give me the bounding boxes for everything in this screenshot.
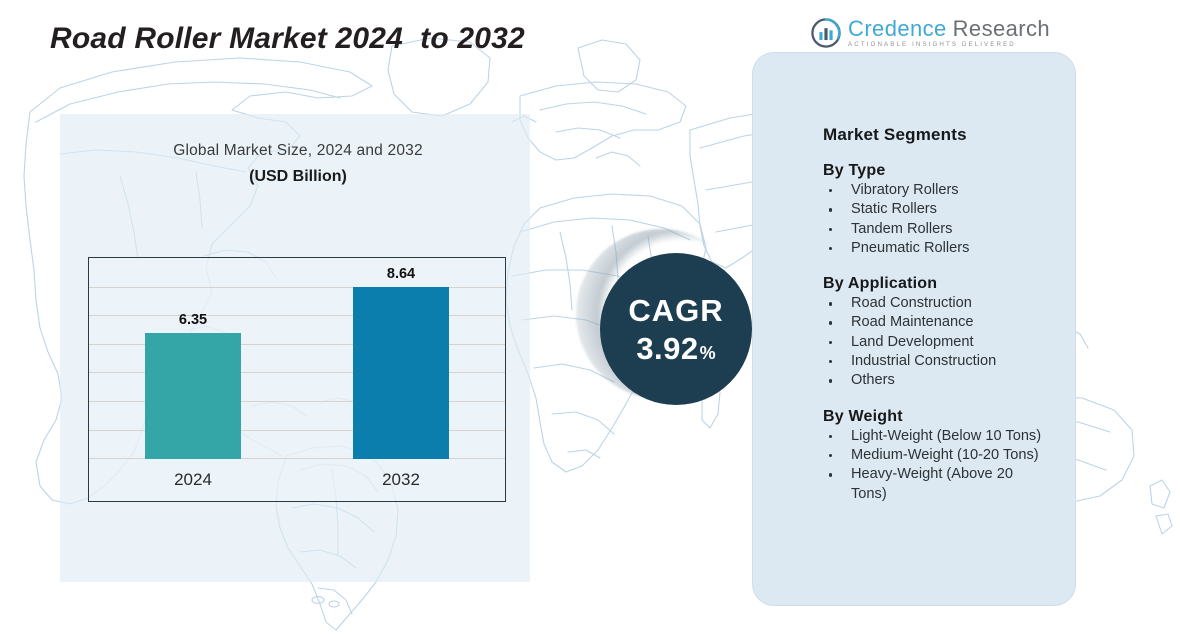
chart-x-axis-labels: 2024 2032 bbox=[89, 459, 505, 501]
chart-plot-area: 6.35 8.64 bbox=[89, 258, 505, 459]
segment-item: Light-Weight (Below 10 Tons) bbox=[823, 427, 1051, 446]
bar-chart: 6.35 8.64 2024 2032 bbox=[88, 257, 506, 502]
segment-group-title: By Type bbox=[823, 162, 1051, 180]
chart-subtitle: Global Market Size, 2024 and 2032 bbox=[88, 142, 508, 160]
segment-item: Tandem Rollers bbox=[823, 220, 1051, 239]
segment-item-list: Vibratory RollersStatic RollersTandem Ro… bbox=[823, 181, 1051, 258]
bar-2024 bbox=[145, 333, 241, 459]
segment-item: Static Rollers bbox=[823, 200, 1051, 219]
brand-word-primary: Credence bbox=[848, 18, 947, 40]
bar-chart-circle-icon bbox=[811, 18, 841, 48]
x-axis-label-2024: 2024 bbox=[123, 470, 263, 490]
segment-item-list: Road ConstructionRoad MaintenanceLand De… bbox=[823, 294, 1051, 390]
market-segments-panel: Market Segments By TypeVibratory Rollers… bbox=[752, 52, 1076, 606]
cagr-percent-symbol: % bbox=[700, 344, 716, 362]
segment-group: By ApplicationRoad ConstructionRoad Main… bbox=[823, 275, 1051, 390]
segment-item: Heavy-Weight (Above 20 Tons) bbox=[823, 465, 1051, 504]
segment-item: Vibratory Rollers bbox=[823, 181, 1051, 200]
infographic-root: Road Roller Market 2024 to 2032 Credence… bbox=[0, 0, 1180, 638]
segment-group: By TypeVibratory RollersStatic RollersTa… bbox=[823, 162, 1051, 258]
brand-logo: Credence Research Actionable Insights De… bbox=[811, 18, 1050, 48]
chart-heading: Global Market Size, 2024 and 2032 (USD B… bbox=[88, 142, 508, 186]
market-segments-title: Market Segments bbox=[823, 125, 1051, 145]
segment-item: Land Development bbox=[823, 333, 1051, 352]
segment-group-title: By Application bbox=[823, 275, 1051, 293]
segment-group: By WeightLight-Weight (Below 10 Tons)Med… bbox=[823, 408, 1051, 504]
brand-word-secondary: Research bbox=[953, 18, 1050, 40]
segment-item-list: Light-Weight (Below 10 Tons)Medium-Weigh… bbox=[823, 427, 1051, 504]
segment-item: Medium-Weight (10-20 Tons) bbox=[823, 446, 1051, 465]
page-title: Road Roller Market 2024 to 2032 bbox=[50, 22, 525, 56]
x-axis-label-2032: 2032 bbox=[331, 470, 471, 490]
brand-logo-text: Credence Research Actionable Insights De… bbox=[848, 18, 1050, 48]
bar-value-label-2032: 8.64 bbox=[387, 266, 415, 282]
segment-item: Others bbox=[823, 371, 1051, 390]
segment-item: Road Construction bbox=[823, 294, 1051, 313]
bar-column: 6.35 bbox=[123, 258, 263, 459]
cagr-value: 3.92 bbox=[636, 333, 698, 364]
bar-value-label-2024: 6.35 bbox=[179, 312, 207, 328]
cagr-figure: 3.92 % bbox=[636, 333, 715, 364]
segment-item: Industrial Construction bbox=[823, 352, 1051, 371]
chart-units-label: (USD Billion) bbox=[88, 168, 508, 186]
segment-item: Road Maintenance bbox=[823, 313, 1051, 332]
bar-2032 bbox=[353, 287, 449, 459]
cagr-badge: CAGR 3.92 % bbox=[592, 245, 760, 413]
segment-item: Pneumatic Rollers bbox=[823, 239, 1051, 258]
segment-group-title: By Weight bbox=[823, 408, 1051, 426]
cagr-label: CAGR bbox=[628, 295, 723, 326]
bar-column: 8.64 bbox=[331, 258, 471, 459]
brand-tagline: Actionable Insights Delivered bbox=[848, 42, 1050, 48]
cagr-circle: CAGR 3.92 % bbox=[600, 253, 752, 405]
market-segments-groups: By TypeVibratory RollersStatic RollersTa… bbox=[823, 162, 1051, 504]
